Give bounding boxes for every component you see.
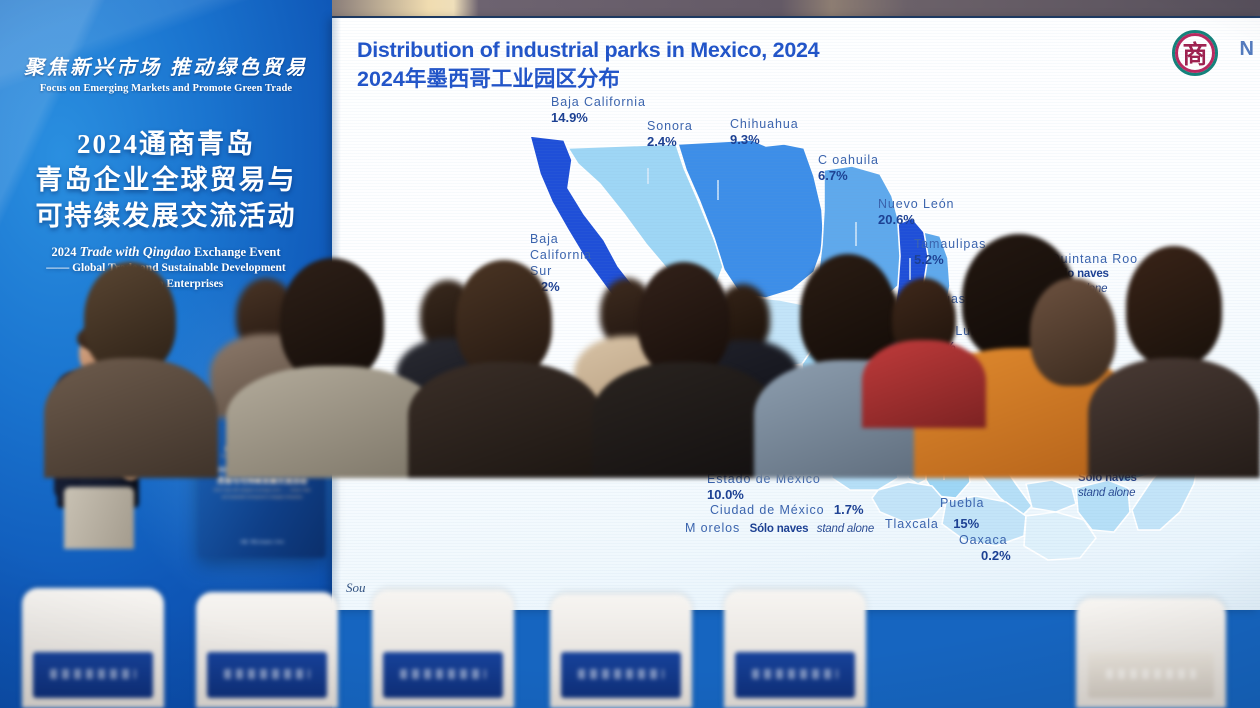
podium-top [198, 408, 326, 420]
chair-back [550, 594, 692, 708]
map-label-chihuahua: Chihuahua 9.3% [730, 116, 799, 149]
region-michoacan [830, 450, 898, 490]
region-coahuila [818, 166, 904, 310]
map-label-hidalgo: Hidalgo 0.6% [915, 380, 1003, 400]
poster-subtitle-year: 2024 [52, 245, 77, 259]
map-label-quintana-roo: Quintana Roo Sólo naves stand alone [1050, 251, 1138, 296]
screen-left-edge [332, 18, 341, 610]
map-label-baja-california: Baja California 14.9% [551, 94, 646, 127]
speaker-hand-mic [118, 381, 134, 396]
podium-brush-cn: 聚焦新兴市场 推动绿色贸易 [206, 446, 318, 453]
poster-brush-cn: 聚焦新兴市场 推动绿色贸易 [0, 56, 332, 80]
podium: 聚焦新兴市场 推动绿色贸易 Focus on Emerging Markets … [198, 418, 326, 558]
speaker-legs [64, 487, 134, 549]
region-tabasco [1026, 480, 1076, 512]
chair-back [1076, 598, 1226, 708]
map-label-sinaloa: Sinaloa 0.2% [675, 296, 723, 329]
chair-plate [1088, 652, 1214, 698]
stage-banner-line-1-cn: 青岛 [142, 397, 166, 413]
map-label-baja-california-sur: Baja California Sur 0.2% [530, 231, 592, 296]
map-label-aguascalientes: Aguascalientes 11% [926, 291, 1023, 324]
chair-plate [561, 652, 680, 698]
slide-source-note: Sou [346, 580, 366, 596]
podium-footer: 中国 · 青岛 Qingdao, China [206, 540, 318, 545]
podium-mic-stand [258, 340, 260, 420]
map-label-sonora: Sonora 2.4% [647, 118, 693, 151]
poster-subtitle-line-2: —— Global Trade and Sustainable Developm… [0, 260, 332, 277]
map-label-estado-de-mexico: Estado de México 10.0% [707, 471, 821, 504]
projection-screen: Distribution of industrial parks in Mexi… [332, 18, 1260, 610]
chair-plate [383, 652, 502, 698]
chair-plate [735, 652, 854, 698]
poster-subtitle-italic: Trade with Qingdao [80, 244, 191, 259]
podium-brush-en: Focus on Emerging Markets and Promote Gr… [206, 454, 318, 458]
speaker-arm-right [116, 390, 140, 476]
screenshot-root: 聚焦新兴市场 推动绿色贸易 Focus on Emerging Markets … [0, 0, 1260, 708]
region-hidalgo [918, 404, 950, 438]
poster-subtitle-en: 2024 Trade with Qingdao Exchange Event [0, 244, 332, 260]
event-poster: 聚焦新兴市场 推动绿色贸易 Focus on Emerging Markets … [0, 56, 332, 293]
stage-banner-line-2-cn: 月4日 [142, 424, 173, 440]
podium-title-cn-1: 2024通商青岛·青岛企业全球 [206, 464, 318, 475]
podium-title-cn-2: 贸易与可持续发展交流活动 [206, 475, 318, 486]
map-label-morelos: M orelos Sólo naves stand alone [685, 518, 874, 538]
map-label-puebla: Puebla [940, 495, 984, 511]
speaker-arm-left [54, 386, 80, 502]
map-label-chiapas: Chiapas Sólo naves stand alone [1078, 455, 1137, 500]
map-label-veracruz: Veracruz 0.6% [965, 404, 1022, 437]
podium-title-en-2: and Sustainable Development of Qingdao E… [206, 495, 318, 499]
poster-main-title: 2024通商青岛 青岛企业全球贸易与 可持续发展交流活动 [0, 127, 332, 235]
map-label-tabasco: Tabasco Sólo naves stand alone [1000, 345, 1059, 390]
map-label-colima: C olima Sólo naves stand alone [577, 425, 760, 445]
poster-subtitle-line-3: of Qingdao Enterprises [0, 276, 332, 293]
map-label-oaxaca: Oaxaca 0.2% [959, 532, 1011, 565]
mexico-choropleth-map: Baja California 14.9% Sonora 2.4% Chihua… [332, 18, 1260, 610]
map-label-jalisco: Jalisco 5.4% [660, 394, 705, 427]
map-label-nuevo-leon: Nuevo León 20.6% [878, 196, 954, 229]
region-guanajuato [860, 398, 904, 436]
poster-title-line-2: 青岛企业全球贸易与 [0, 163, 332, 199]
region-aguascalientes [840, 388, 860, 410]
map-label-guanajuato: Guanajuato 8.9% [580, 444, 693, 464]
speaker-hand-clicker [123, 466, 138, 480]
map-label-queretaro: Querétaro 5.2% [710, 452, 813, 472]
map-label-zacatecas: Zacatecas 1.5% [612, 366, 717, 386]
poster-title-line-3: 可持续发展交流活动 [0, 199, 332, 235]
podium-title-en-1: 2024 Trade with Qingdao Exchange Event —… [206, 488, 318, 492]
map-label-tamaulipas: Tamaulipas 5.2% [914, 236, 986, 269]
speaker-glasses [105, 345, 122, 355]
map-label-coahuila: C oahuila 6.7% [818, 152, 879, 185]
map-label-yucatan: Yucatán 0.6% [1032, 312, 1083, 345]
poster-subtitle-rest: Exchange Event [194, 245, 280, 259]
poster-title-line-1: 2024通商青岛 [0, 127, 332, 163]
poster-brush-en: Focus on Emerging Markets and Promote Gr… [0, 83, 332, 94]
